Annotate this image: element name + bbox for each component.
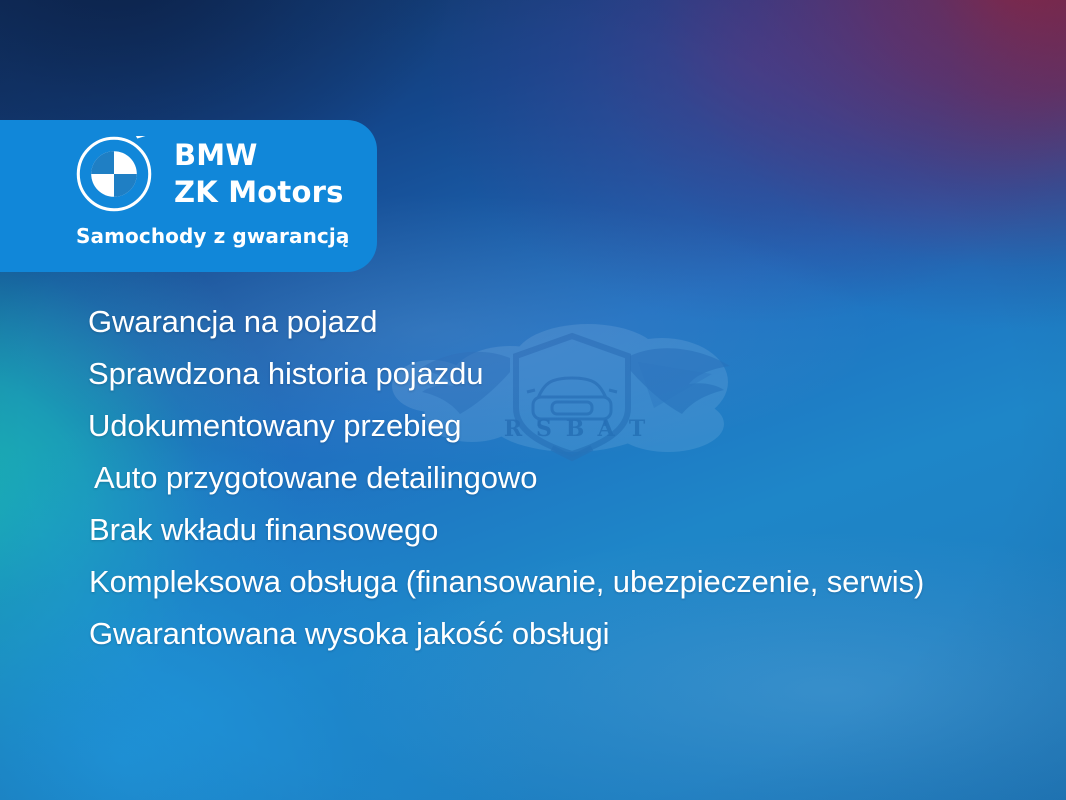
dealer-logo-badge: B M W BMW ZK Motors Samochody z gwarancj… [0,120,377,272]
badge-brand-name: BMW [174,141,344,170]
benefit-item: Udokumentowany przebieg [0,400,1066,452]
badge-top-row: B M W BMW ZK Motors [0,120,377,216]
promo-banner: R S B A T B M W [0,0,1066,800]
benefit-item: Brak wkładu finansowego [0,504,1066,556]
benefit-item: Sprawdzona historia pojazdu [0,348,1066,400]
benefit-item: Gwarantowana wysoka jakość obsługi [0,608,1066,660]
badge-dealer-name: ZK Motors [174,178,344,207]
benefits-list: Gwarancja na pojazdSprawdzona historia p… [0,296,1066,660]
bmw-roundel-icon: B M W [76,136,152,212]
benefit-item: Auto przygotowane detailingowo [0,452,1066,504]
badge-title-group: BMW ZK Motors [174,141,344,207]
badge-tagline: Samochody z gwarancją [0,224,377,248]
svg-text:B: B [82,136,100,139]
benefit-item: Gwarancja na pojazd [0,296,1066,348]
benefit-item: Kompleksowa obsługa (finansowanie, ubezp… [0,556,1066,608]
